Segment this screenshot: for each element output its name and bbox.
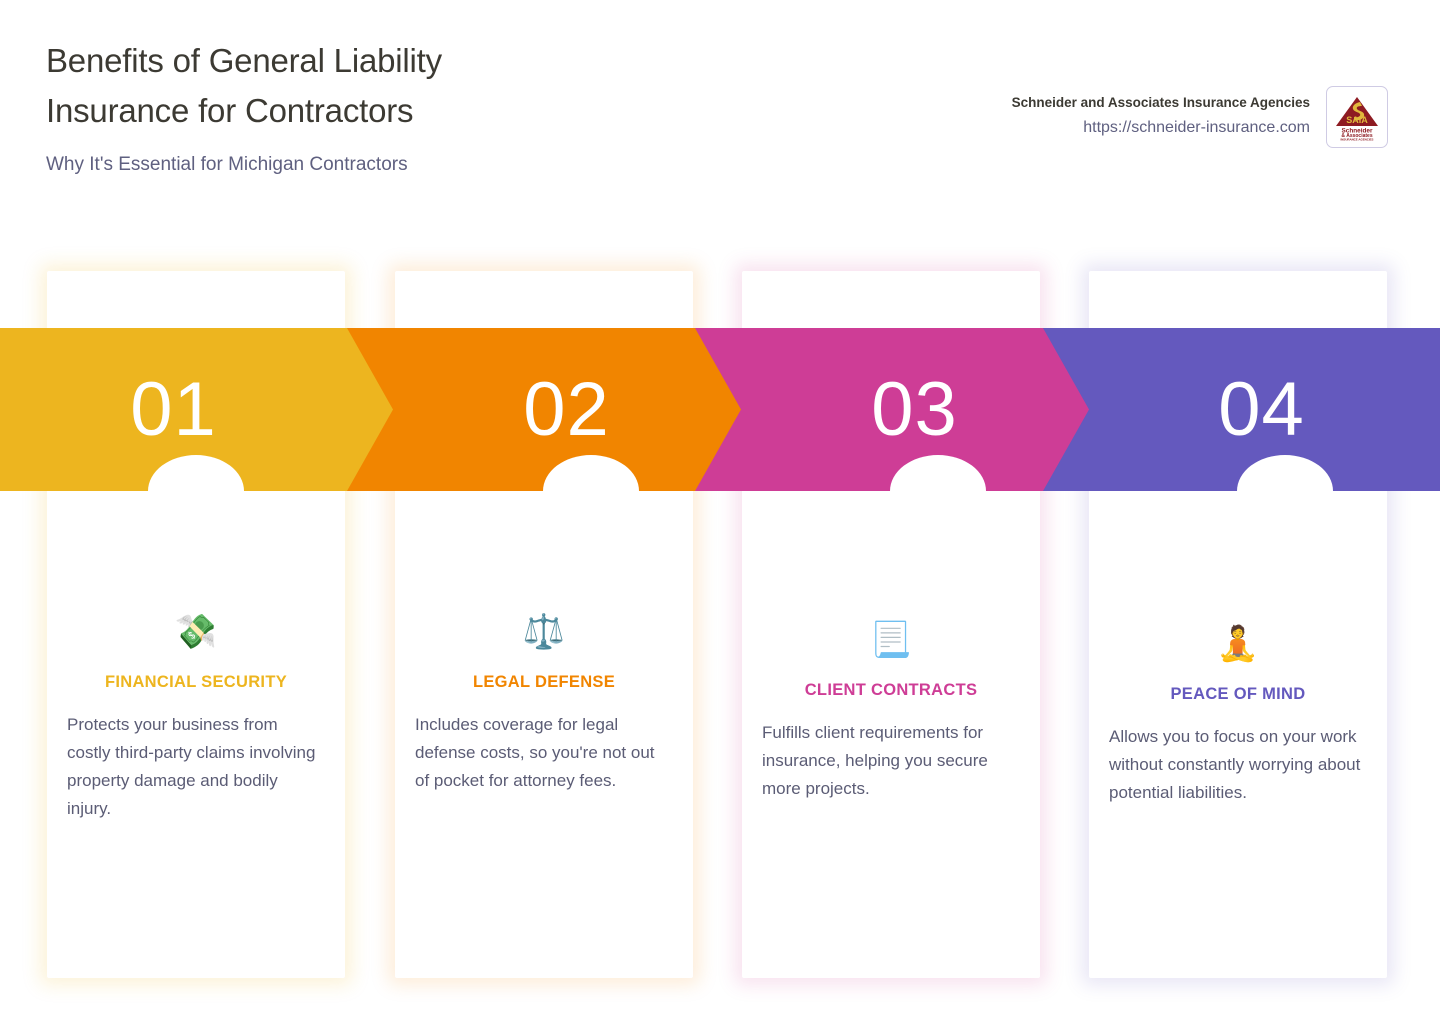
card-body: Fulfills client requirements for insuran…	[762, 719, 1020, 803]
step-arrow-banner: 04 03 02 01	[0, 328, 1440, 491]
money-with-wings-icon: 💸	[67, 593, 325, 671]
step-number-2: 02	[393, 328, 740, 491]
page-with-curl-icon: 📃	[762, 601, 1020, 679]
step-band-4[interactable]: 04	[1041, 328, 1440, 491]
card-body: Allows you to focus on your work without…	[1109, 723, 1367, 807]
card-title: FINANCIAL SECURITY	[67, 671, 325, 693]
person-in-lotus-position-icon: 🧘	[1109, 605, 1367, 683]
step-number-4: 04	[1088, 328, 1435, 491]
card-body: Protects your business from costly third…	[67, 711, 325, 823]
card-title: CLIENT CONTRACTS	[762, 679, 1020, 701]
card-content: 💸 FINANCIAL SECURITY Protects your busin…	[47, 593, 345, 823]
card-content: 📃 CLIENT CONTRACTS Fulfills client requi…	[742, 601, 1040, 803]
card-content: ⚖️ LEGAL DEFENSE Includes coverage for l…	[395, 593, 693, 795]
card-title: LEGAL DEFENSE	[415, 671, 673, 693]
step-band-2[interactable]: 02	[347, 328, 741, 491]
step-number-1: 01	[0, 328, 347, 491]
step-band-1[interactable]: 01	[0, 328, 393, 491]
balance-scale-icon: ⚖️	[415, 593, 673, 671]
card-body: Includes coverage for legal defense cost…	[415, 711, 673, 795]
step-band-3[interactable]: 03	[694, 328, 1089, 491]
card-title: PEACE OF MIND	[1109, 683, 1367, 705]
card-content: 🧘 PEACE OF MIND Allows you to focus on y…	[1089, 605, 1387, 807]
step-number-3: 03	[741, 328, 1088, 491]
